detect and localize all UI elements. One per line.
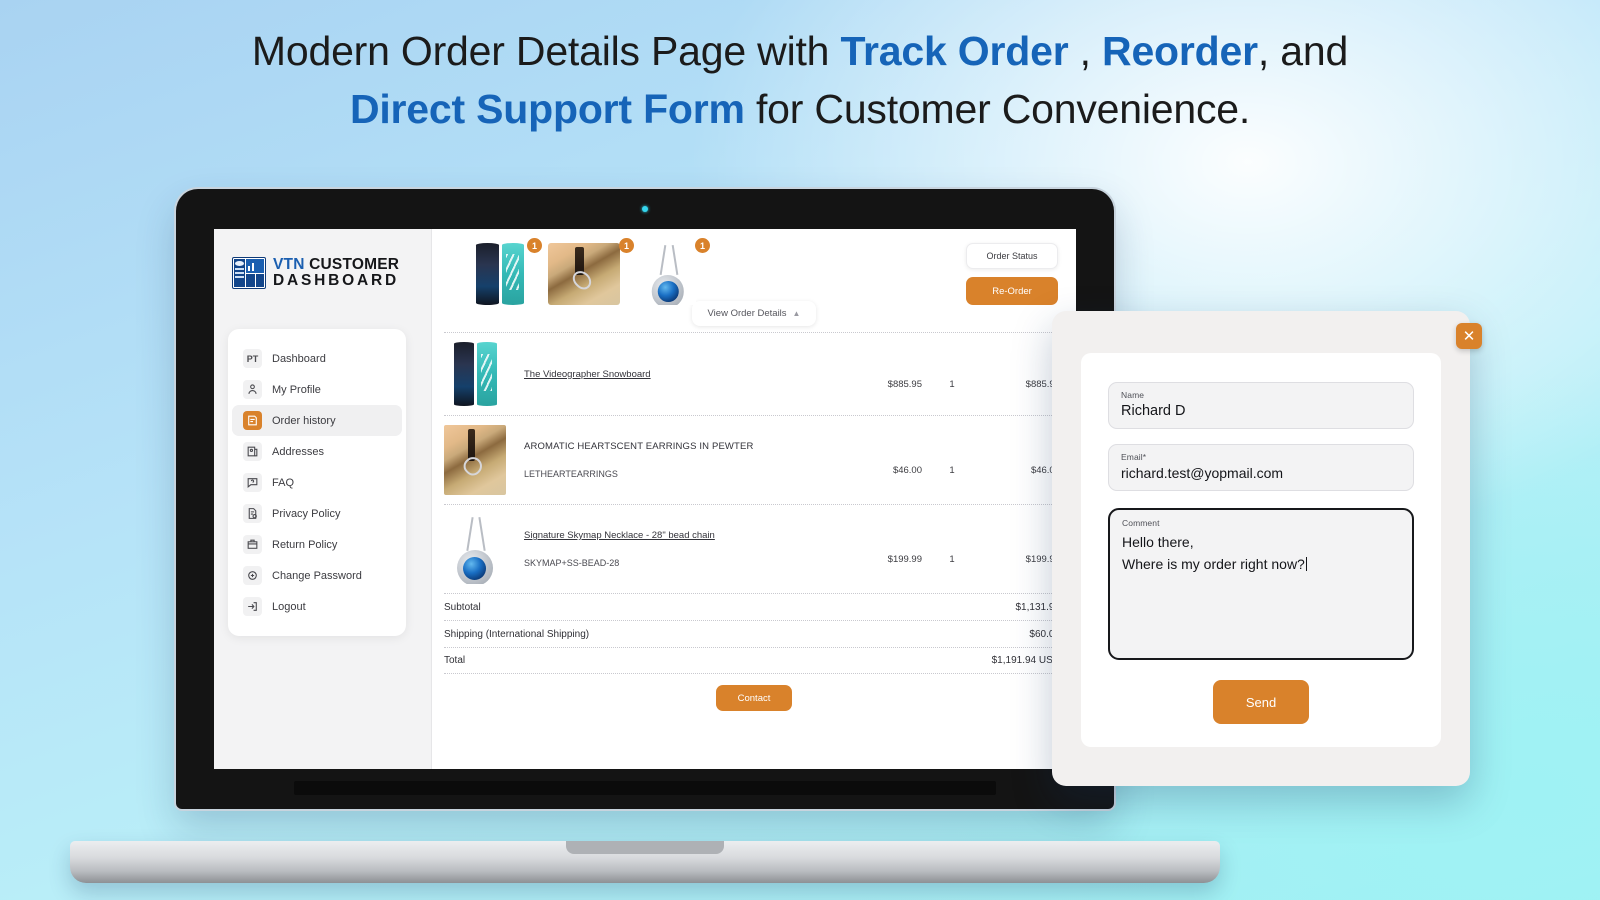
comment-label: Comment <box>1122 518 1400 528</box>
sidebar-item-label: Order history <box>272 415 336 427</box>
name-input[interactable]: Richard D <box>1121 403 1401 419</box>
headline-highlight-reorder: Reorder <box>1102 28 1258 74</box>
comment-line-2: Where is my order right now? <box>1122 556 1305 572</box>
laptop-mockup: VTN CUSTOMER DASHBOARD PT Dashboard My P… <box>176 189 1114 809</box>
pt-initials: PT <box>247 354 259 364</box>
product-title[interactable]: The Videographer Snowboard <box>524 369 844 380</box>
laptop-base <box>70 841 1220 883</box>
qty-badge: 1 <box>619 238 634 253</box>
close-icon[interactable]: ✕ <box>1456 323 1482 349</box>
order-thumbnails: 1 1 1 <box>450 243 966 305</box>
email-field[interactable]: Email* richard.test@yopmail.com <box>1108 444 1414 491</box>
sidebar-item-return-policy[interactable]: Return Policy <box>232 529 402 560</box>
order-items-table: The Videographer Snowboard $885.95 1 $88… <box>444 332 1064 711</box>
user-icon <box>243 380 262 399</box>
privacy-document-icon <box>243 504 262 523</box>
summary-row-total: Total $1,191.94 USD <box>444 647 1064 674</box>
order-details-content: 1 1 1 Order Status Re-Order <box>432 229 1076 769</box>
headline-highlight-track-order: Track Order <box>840 28 1068 74</box>
password-lock-icon <box>243 566 262 585</box>
contact-button-wrap: Contact <box>444 685 1064 711</box>
sidebar-item-faq[interactable]: FAQ <box>232 467 402 498</box>
brand-customer: CUSTOMER <box>305 256 400 273</box>
headline-text-4: for Customer Convenience. <box>745 86 1250 132</box>
sidebar-menu: PT Dashboard My Profile Order histor <box>228 329 406 636</box>
comment-field[interactable]: Comment Hello there, Where is my order r… <box>1108 508 1414 660</box>
product-image <box>444 514 506 584</box>
sidebar-item-label: Return Policy <box>272 539 337 551</box>
sidebar-item-label: Logout <box>272 601 306 613</box>
headline-line-2: Direct Support Form for Customer Conveni… <box>0 84 1600 136</box>
headline-highlight-support-form: Direct Support Form <box>350 86 745 132</box>
product-price: $199.99 <box>844 534 922 565</box>
name-field[interactable]: Name Richard D <box>1108 382 1414 429</box>
send-button[interactable]: Send <box>1213 680 1309 724</box>
browser-screen: VTN CUSTOMER DASHBOARD PT Dashboard My P… <box>214 229 1076 769</box>
chevron-up-icon: ▲ <box>793 309 801 318</box>
order-history-icon <box>243 411 262 430</box>
product-image <box>444 425 506 495</box>
pt-avatar-icon: PT <box>243 349 262 368</box>
product-title[interactable]: AROMATIC HEARTSCENT EARRINGS IN PEWTER <box>524 441 844 452</box>
qty-badge: 1 <box>695 238 710 253</box>
table-row: AROMATIC HEARTSCENT EARRINGS IN PEWTER L… <box>444 415 1064 504</box>
send-button-wrap: Send <box>1081 680 1441 724</box>
webcam-icon <box>642 206 648 212</box>
total-value: $1,191.94 USD <box>992 655 1060 666</box>
logout-icon <box>243 597 262 616</box>
sidebar-item-addresses[interactable]: Addresses <box>232 436 402 467</box>
product-title[interactable]: Signature Skymap Necklace - 28" bead cha… <box>524 530 844 541</box>
laptop-lid: VTN CUSTOMER DASHBOARD PT Dashboard My P… <box>176 189 1114 809</box>
headline-text-1: Modern Order Details Page with <box>252 28 841 74</box>
product-qty: 1 <box>922 445 982 476</box>
text-cursor-icon <box>1306 557 1307 571</box>
product-sku: SKYMAP+SS-BEAD-28 <box>524 558 844 568</box>
name-label: Name <box>1121 390 1401 400</box>
vtn-logo-icon <box>232 257 266 289</box>
support-form-card: Name Richard D Email* richard.test@yopma… <box>1081 353 1441 747</box>
sidebar-item-dashboard[interactable]: PT Dashboard <box>232 343 402 374</box>
sidebar-item-label: My Profile <box>272 384 321 396</box>
page-headline: Modern Order Details Page with Track Ord… <box>0 26 1600 135</box>
table-row: Signature Skymap Necklace - 28" bead cha… <box>444 504 1064 593</box>
reorder-button[interactable]: Re-Order <box>966 277 1058 305</box>
sidebar-item-logout[interactable]: Logout <box>232 591 402 622</box>
headline-text-2: , <box>1068 28 1102 74</box>
product-price: $46.00 <box>844 445 922 476</box>
table-row: The Videographer Snowboard $885.95 1 $88… <box>444 332 1064 415</box>
product-image <box>444 342 506 406</box>
summary-row-shipping: Shipping (International Shipping) $60.00 <box>444 620 1064 647</box>
brand-logo[interactable]: VTN CUSTOMER DASHBOARD <box>214 229 431 290</box>
summary-row-subtotal: Subtotal $1,131.94 <box>444 593 1064 620</box>
support-form-panel: ✕ Name Richard D Email* richard.test@yop… <box>1052 311 1470 786</box>
comment-textarea[interactable]: Where is my order right now? <box>1122 556 1400 572</box>
view-order-details-label: View Order Details <box>708 308 787 319</box>
brand-dashboard: DASHBOARD <box>273 273 399 289</box>
view-order-details-button[interactable]: View Order Details ▲ <box>692 301 817 326</box>
sidebar-item-label: Privacy Policy <box>272 508 340 520</box>
product-qty: 1 <box>922 534 982 565</box>
brand-name: VTN CUSTOMER DASHBOARD <box>273 257 399 290</box>
sidebar-item-label: Dashboard <box>272 353 326 365</box>
product-sku: LETHEARTEARRINGS <box>524 469 844 479</box>
comment-line-1: Hello there, <box>1122 534 1400 550</box>
contact-button[interactable]: Contact <box>716 685 792 711</box>
sidebar-item-privacy-policy[interactable]: Privacy Policy <box>232 498 402 529</box>
sidebar-item-order-history[interactable]: Order history <box>232 405 402 436</box>
brand-vtn: VTN <box>273 256 305 273</box>
order-header: 1 1 1 Order Status Re-Order <box>432 229 1076 305</box>
product-qty: 1 <box>922 359 982 390</box>
necklace-thumbnail[interactable]: 1 <box>640 243 696 305</box>
laptop-lid-bottom-edge <box>294 781 996 795</box>
headline-text-3: , and <box>1258 28 1348 74</box>
sidebar-item-label: Addresses <box>272 446 324 458</box>
subtotal-label: Subtotal <box>444 602 481 613</box>
product-price: $885.95 <box>844 359 922 390</box>
email-input[interactable]: richard.test@yopmail.com <box>1121 465 1401 481</box>
qty-badge: 1 <box>527 238 542 253</box>
faq-icon <box>243 473 262 492</box>
address-book-icon <box>243 442 262 461</box>
snowboard-thumbnail[interactable]: 1 <box>472 243 528 305</box>
sidebar-item-change-password[interactable]: Change Password <box>232 560 402 591</box>
sidebar-item-my-profile[interactable]: My Profile <box>232 374 402 405</box>
order-status-button[interactable]: Order Status <box>966 243 1058 269</box>
sidebar-item-label: FAQ <box>272 477 294 489</box>
sidebar: VTN CUSTOMER DASHBOARD PT Dashboard My P… <box>214 229 432 769</box>
sidebar-item-label: Change Password <box>272 570 362 582</box>
total-label: Total <box>444 655 465 666</box>
email-label: Email* <box>1121 452 1401 462</box>
earrings-thumbnail[interactable]: 1 <box>548 243 620 305</box>
shipping-label: Shipping (International Shipping) <box>444 629 589 640</box>
return-box-icon <box>243 535 262 554</box>
order-header-actions: Order Status Re-Order <box>966 243 1058 305</box>
